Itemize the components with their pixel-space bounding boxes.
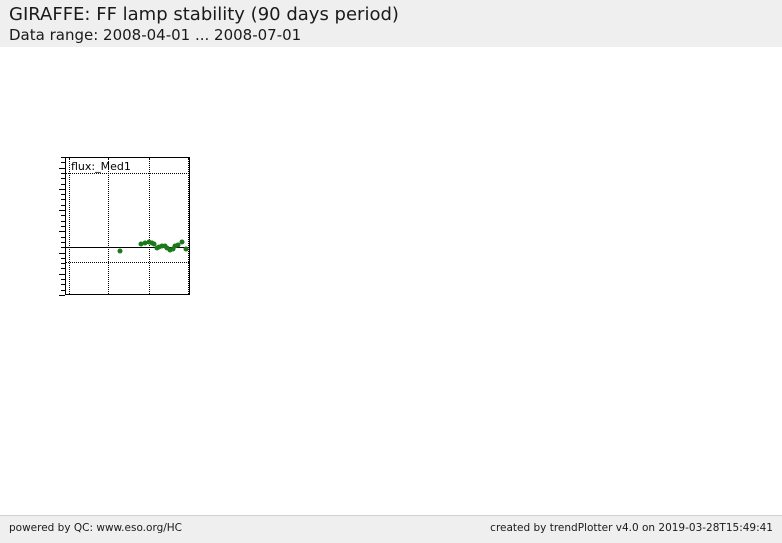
page-subtitle: Data range: 2008-04-01 ... 2008-07-01 <box>9 26 301 44</box>
y-tick <box>61 242 65 243</box>
y-tick <box>61 247 65 248</box>
date-gridline <box>69 158 70 294</box>
y-tick <box>61 263 65 264</box>
data-point <box>117 249 122 254</box>
plot-frame <box>65 157 190 295</box>
y-tick <box>59 210 65 211</box>
y-tick <box>59 189 65 190</box>
y-tick <box>61 268 65 269</box>
y-tick <box>59 253 65 254</box>
y-tick <box>61 290 65 291</box>
header: GIRAFFE: FF lamp stability (90 days peri… <box>0 0 782 47</box>
plot-canvas: flux:_Med1 <box>0 47 782 515</box>
y-tick <box>61 279 65 280</box>
y-tick <box>59 295 65 296</box>
y-tick <box>61 215 65 216</box>
panel-label: flux:_Med1 <box>71 160 131 173</box>
date-gridline <box>149 158 150 294</box>
y-tick <box>61 221 65 222</box>
data-point <box>167 248 172 253</box>
y-tick <box>61 173 65 174</box>
y-tick <box>61 194 65 195</box>
limit-line <box>66 262 189 263</box>
y-tick <box>61 178 65 179</box>
date-gridline <box>188 158 189 294</box>
y-tick <box>61 258 65 259</box>
y-tick <box>61 237 65 238</box>
y-tick <box>59 274 65 275</box>
date-gridline <box>108 158 109 294</box>
footer-credit: powered by QC: www.eso.org/HC <box>9 522 182 534</box>
y-tick <box>61 199 65 200</box>
reference-line <box>66 247 189 248</box>
data-point <box>179 240 184 245</box>
y-tick <box>61 162 65 163</box>
y-tick <box>61 226 65 227</box>
data-point <box>139 242 144 247</box>
y-tick <box>59 168 65 169</box>
limit-line <box>66 173 189 174</box>
data-point <box>152 242 157 247</box>
y-tick <box>59 231 65 232</box>
panel-flux-med1: flux:_Med1 <box>65 157 190 295</box>
footer-generator: created by trendPlotter v4.0 on 2019-03-… <box>490 522 773 534</box>
y-tick <box>61 284 65 285</box>
y-tick <box>61 205 65 206</box>
y-tick <box>61 157 65 158</box>
page-title: GIRAFFE: FF lamp stability (90 days peri… <box>9 4 399 25</box>
footer: powered by QC: www.eso.org/HC created by… <box>0 515 782 543</box>
data-point <box>142 240 147 245</box>
y-tick <box>61 184 65 185</box>
